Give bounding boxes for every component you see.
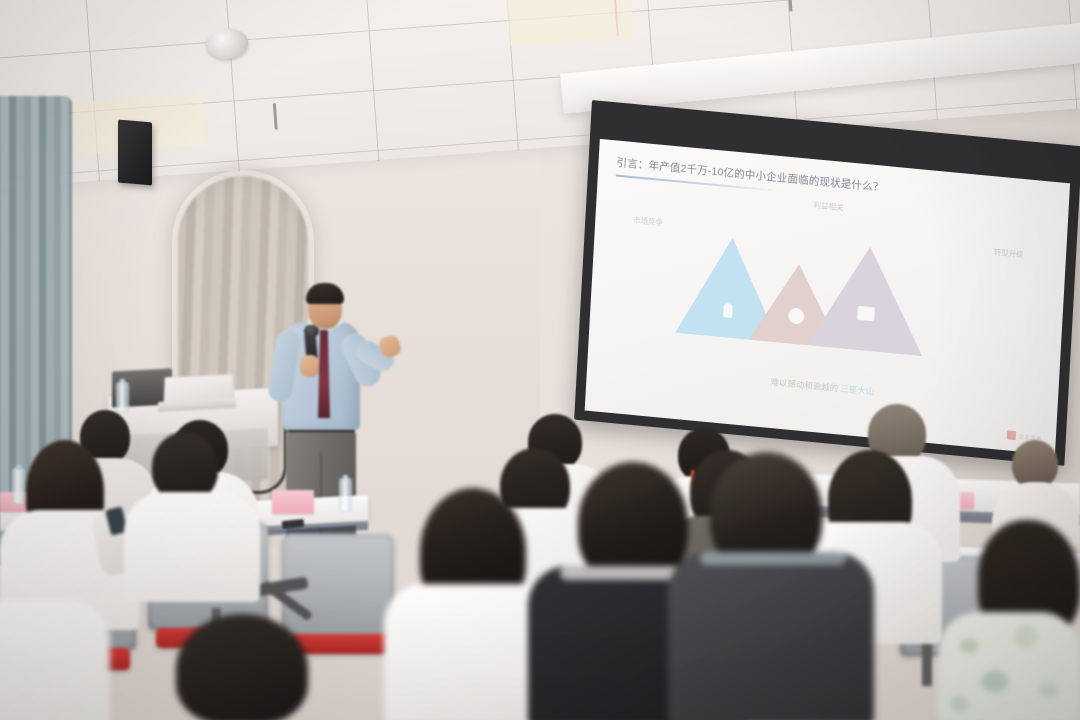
presenter-hair — [306, 283, 344, 304]
presenter-left-hand — [300, 355, 319, 377]
water-bottle — [12, 468, 25, 504]
audience-torso — [0, 600, 110, 720]
screen-surface: 引言：年产值2千万-10亿的中小企业面临的现状是什么？ 利益相关 市场竞争 转型… — [585, 139, 1070, 455]
audience-torso — [938, 612, 1080, 720]
office-chair-post — [922, 640, 932, 686]
slide-content: 引言：年产值2千万-10亿的中小企业面临的现状是什么？ 利益相关 市场竞争 转型… — [585, 139, 1070, 455]
slide-caption-highlight: 三座大山 — [840, 383, 874, 396]
mountain-label-right: 转型升级 — [993, 246, 1024, 260]
presentation-icon — [857, 306, 875, 322]
wall-speaker-icon — [118, 120, 152, 186]
ceiling-speaker-stem — [788, 0, 792, 11]
audience-torso — [668, 552, 874, 720]
audience-torso — [124, 492, 260, 602]
slide-caption-prefix: 难以撼动和逾越的 — [770, 377, 838, 393]
seminar-room-photo: 引言：年产值2千万-10亿的中小企业面临的现状是什么？ 利益相关 市场竞争 转型… — [0, 0, 1080, 720]
audience-head — [1012, 440, 1058, 488]
name-card — [272, 490, 314, 514]
slide-caption: 难以撼动和逾越的 三座大山 — [587, 359, 1058, 415]
logo-mark-icon — [1007, 430, 1016, 440]
water-bottle — [116, 382, 129, 412]
mountain-right — [807, 241, 928, 356]
audience-collar-trim — [700, 552, 846, 565]
water-bottle — [339, 478, 352, 512]
mountain-label-left: 市场竞争 — [633, 214, 664, 228]
projector-screen-icon[interactable]: 引言：年产值2千万-10亿的中小企业面临的现状是什么？ 利益相关 市场竞争 转型… — [574, 100, 1080, 466]
audience-head — [176, 614, 308, 720]
document-icon — [723, 303, 733, 318]
mountain-label-top: 利益相关 — [813, 199, 844, 213]
